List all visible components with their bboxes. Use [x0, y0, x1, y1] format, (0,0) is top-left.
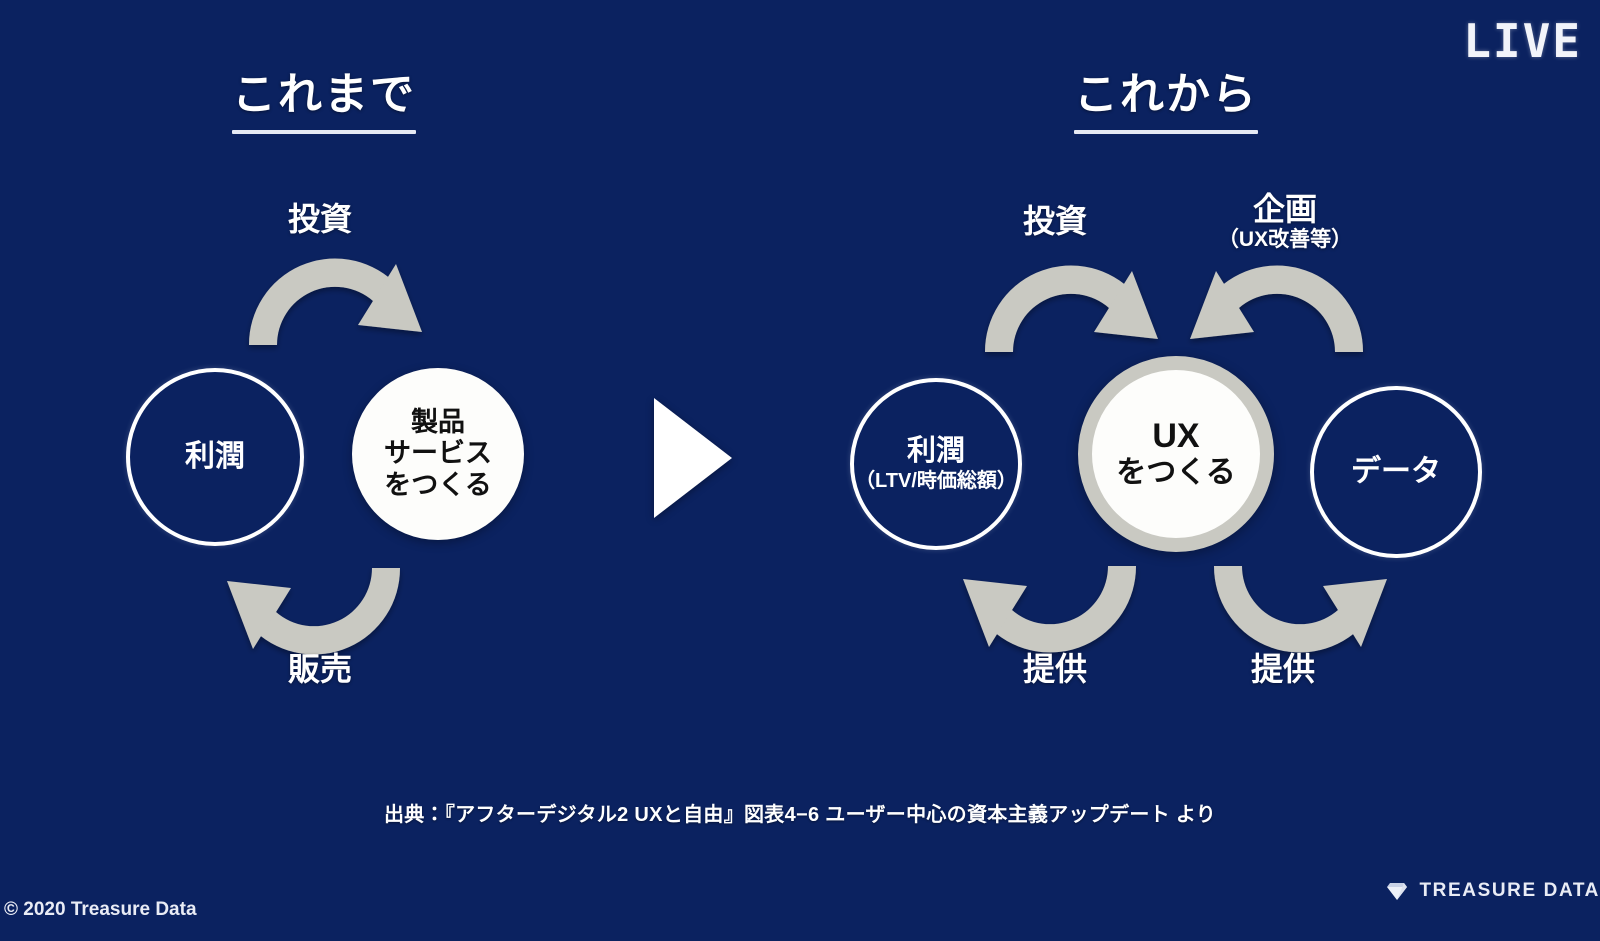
node-profit-right: 利潤 （LTV/時価総額） [850, 378, 1022, 550]
arrow-label-planning: 企画 （UX改善等） [1200, 192, 1370, 251]
treasure-data-logo-text: TREASURE DATA [1419, 880, 1600, 902]
column-title-after: これから [1074, 58, 1258, 134]
arrow-right-provide-right [1214, 566, 1387, 653]
arrow-label-sales-text: 販売 [240, 652, 400, 688]
arrow-label-provide-left: 提供 [975, 652, 1135, 688]
node-product-line2: サービス [384, 438, 492, 469]
treasure-data-logo: TREASURE DATA [1385, 880, 1600, 902]
arrow-label-sales: 販売 [240, 652, 400, 688]
node-product-service: 製品 サービス をつくる [352, 368, 524, 540]
node-data: データ [1310, 386, 1482, 558]
diamond-icon [1385, 881, 1409, 901]
slide-canvas: LIVE これまで これから [0, 0, 1600, 941]
arrow-right-planning [1190, 265, 1363, 352]
arrow-label-investment-right: 投資 [975, 204, 1135, 240]
arrow-label-investment-right-text: 投資 [975, 204, 1135, 240]
arrow-right-investment [985, 265, 1158, 352]
play-triangle-icon [654, 398, 732, 518]
node-data-label: データ [1351, 455, 1441, 490]
column-title-before: これまで [232, 58, 416, 134]
live-badge: LIVE [1463, 18, 1582, 64]
arrow-label-investment-left-text: 投資 [240, 202, 400, 238]
node-ux: UX をつくる [1078, 356, 1274, 552]
arrow-right-provide-left [963, 566, 1136, 653]
arrow-label-provide-right: 提供 [1203, 652, 1363, 688]
node-ux-line1: UX [1152, 417, 1199, 456]
arrow-left-investment [249, 258, 422, 345]
node-profit-right-main: 利潤 [907, 435, 965, 469]
arrow-label-provide-left-text: 提供 [975, 652, 1135, 688]
arrow-left-sales [227, 568, 400, 655]
arrow-label-planning-sub: （UX改善等） [1200, 228, 1370, 252]
arrow-label-planning-text: 企画 [1200, 192, 1370, 228]
node-profit-right-sub: （LTV/時価総額） [855, 470, 1017, 493]
arrow-label-provide-right-text: 提供 [1203, 652, 1363, 688]
node-product-line3: をつくる [384, 470, 491, 501]
source-caption: 出典：『アフターデジタル2 UXと自由』図表4−6 ユーザー中心の資本主義アップ… [0, 798, 1600, 827]
node-ux-line2: をつくる [1116, 456, 1235, 491]
arrow-label-investment-left: 投資 [240, 202, 400, 238]
node-profit-left: 利潤 [126, 368, 304, 546]
copyright-text: © 2020 Treasure Data [4, 899, 197, 921]
node-profit-left-label: 利潤 [185, 440, 245, 475]
node-product-line1: 製品 [411, 407, 465, 438]
